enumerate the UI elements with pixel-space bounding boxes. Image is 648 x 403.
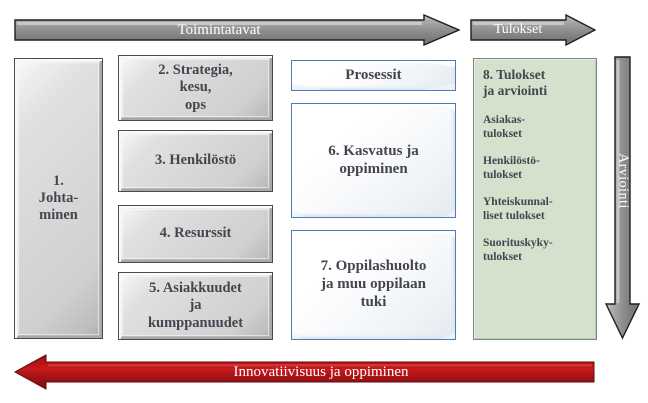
enabler-box-henkilosto[interactable]: 3. Henkilöstö [118,130,273,192]
process-box-oppilashuolto[interactable]: 7. Oppilashuolto ja muu oppilaan tuki [291,230,456,340]
enabler-box-resurssit[interactable]: 4. Resurssit [118,205,273,263]
arrow-tulokset: Tulokset [470,14,596,46]
enabler-box-asiakkuudet[interactable]: 5. Asiakkuudet ja kumppanuudet [118,272,273,340]
results-panel-title: 8. Tulokset ja arviointi [483,67,596,99]
diagram-canvas: Toimintatavat Tulokset 1. Johta- minen 2… [0,0,648,403]
process-box-kasvatus-label: 6. Kasvatus ja oppiminen [324,143,422,178]
arrow-arviointi: Arviointi [604,56,641,340]
arrow-toimintatavat: Toimintatavat [14,14,460,46]
down-arrow-icon [604,56,641,340]
results-item-suorituskyky: Suorituskyky- tulokset [483,236,596,264]
enabler-box-resurssit-label: 4. Resurssit [156,225,236,242]
process-header-label: Prosessit [341,67,405,85]
left-arrow-icon [14,353,596,391]
results-item-henkilosto: Henkilöstö- tulokset [483,154,596,182]
process-header-box[interactable]: Prosessit [291,60,456,91]
results-panel[interactable]: 8. Tulokset ja arviointi Asiakas- tuloks… [473,58,597,340]
enabler-box-johtaminen-label: 1. Johta- minen [35,173,82,224]
process-box-oppilashuolto-label: 7. Oppilashuolto ja muu oppilaan tuki [317,258,431,311]
right-arrow-icon [14,14,460,46]
process-box-kasvatus[interactable]: 6. Kasvatus ja oppiminen [291,103,456,218]
results-item-asiakas: Asiakas- tulokset [483,113,596,141]
enabler-box-johtaminen[interactable]: 1. Johta- minen [14,58,103,339]
right-arrow-icon [470,14,596,46]
enabler-box-strategia[interactable]: 2. Strategia, kesu, ops [118,55,273,121]
enabler-box-asiakkuudet-label: 5. Asiakkuudet ja kumppanuudet [144,280,247,331]
enabler-box-strategia-label: 2. Strategia, kesu, ops [154,62,237,113]
enabler-box-henkilosto-label: 3. Henkilöstö [151,152,240,169]
arrow-innovatiivisuus: Innovatiivisuus ja oppiminen [14,353,596,391]
results-item-yhteiskunnalliset: Yhteiskunnal- liset tulokset [483,195,596,223]
